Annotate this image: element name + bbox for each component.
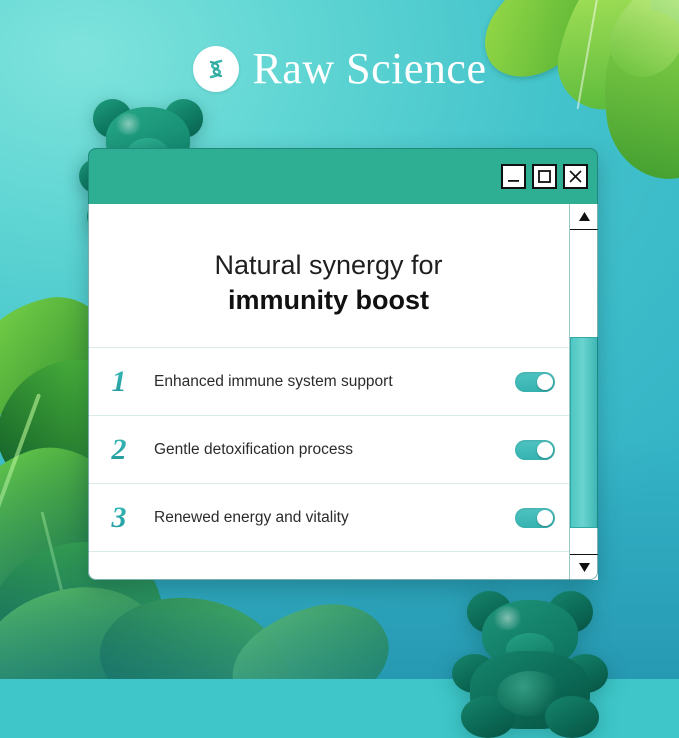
toggle-switch[interactable]	[515, 372, 555, 392]
list-item-number: 3	[88, 501, 150, 535]
list-item-toggle-cell	[501, 440, 569, 460]
scrollbar-thumb[interactable]	[570, 337, 598, 528]
list-item[interactable]: 3 Renewed energy and vitality	[88, 483, 569, 551]
bear-gloss	[491, 606, 524, 630]
list-item-label: Enhanced immune system support	[150, 373, 501, 391]
benefit-list: 1 Enhanced immune system support 2 Gentl…	[88, 347, 569, 580]
brand-name: Raw Science	[253, 47, 487, 91]
brand-header: Raw Science	[0, 38, 679, 100]
list-item-number: 2	[88, 433, 150, 467]
scroll-down-button[interactable]	[570, 554, 598, 580]
toggle-switch[interactable]	[515, 440, 555, 460]
heading-line-1: Natural synergy for	[108, 248, 549, 283]
s-helix-logo-icon	[193, 46, 239, 92]
list-item-number: 1	[88, 365, 150, 399]
gummy-bear-decoration-bottom	[455, 588, 605, 738]
list-item-label: Gentle detoxification process	[150, 441, 501, 459]
window-controls	[501, 164, 588, 189]
list-item[interactable]: 2 Gentle detoxification process	[88, 415, 569, 483]
maximize-button[interactable]	[532, 164, 557, 189]
scroll-up-button[interactable]	[570, 204, 598, 230]
toggle-knob	[537, 510, 553, 526]
bear-gloss	[114, 113, 143, 135]
list-item[interactable]: 1 Enhanced immune system support	[88, 347, 569, 415]
list-item-toggle-cell	[501, 372, 569, 392]
toggle-knob	[537, 374, 553, 390]
minimize-button[interactable]	[501, 164, 526, 189]
page-title: Natural synergy for immunity boost	[88, 204, 569, 317]
bear-belly	[497, 671, 563, 716]
list-item-toggle-cell	[501, 508, 569, 528]
app-window: Natural synergy for immunity boost 1 Enh…	[88, 148, 598, 580]
list-item-label: Renewed energy and vitality	[150, 509, 501, 527]
vertical-scrollbar[interactable]	[569, 204, 598, 580]
close-button[interactable]	[563, 164, 588, 189]
scrollbar-track[interactable]	[570, 230, 598, 554]
window-client-area: Natural synergy for immunity boost 1 Enh…	[88, 204, 598, 580]
window-titlebar[interactable]	[88, 148, 598, 205]
content-panel: Natural synergy for immunity boost 1 Enh…	[88, 204, 569, 580]
toggle-knob	[537, 442, 553, 458]
toggle-switch[interactable]	[515, 508, 555, 528]
list-item-empty	[88, 551, 569, 580]
heading-line-2: immunity boost	[108, 283, 549, 318]
